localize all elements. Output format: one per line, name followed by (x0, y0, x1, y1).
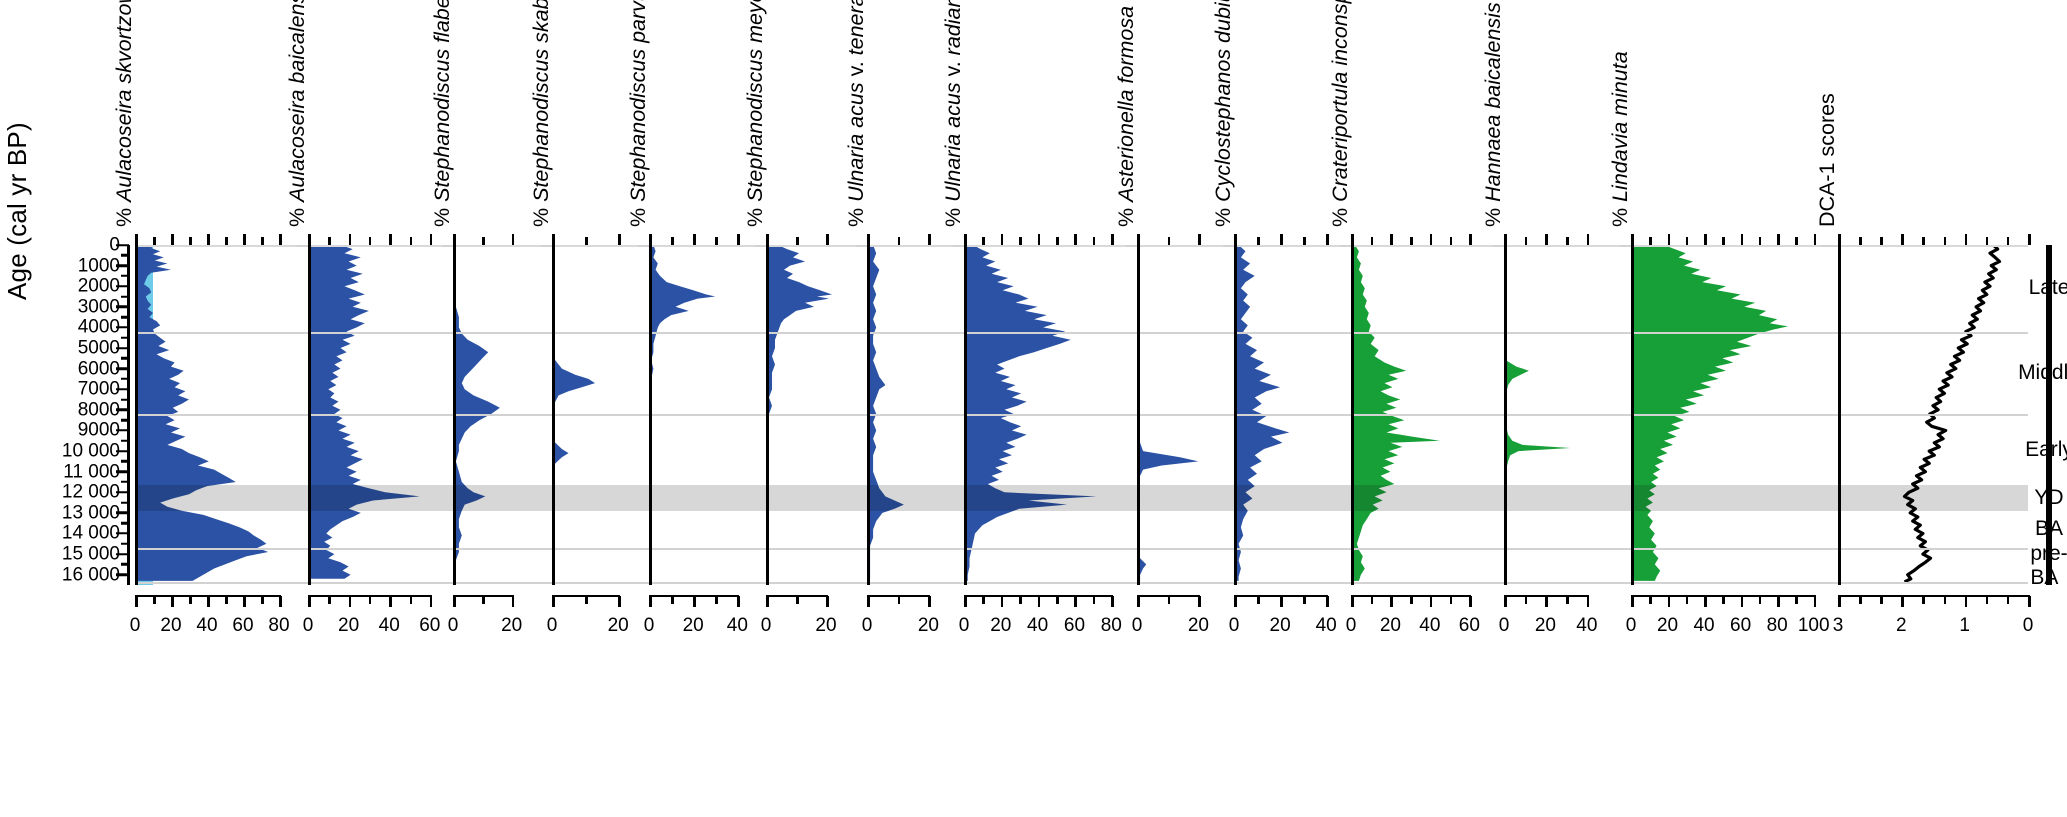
panel-top-minor-tick (1093, 237, 1096, 245)
panel-bottom-tick (826, 596, 829, 607)
panel-tick-label: 20 (608, 615, 629, 637)
panel-plot-area (552, 245, 638, 585)
panel-bottom-minor-tick (369, 596, 372, 604)
panel-bottom-tick (552, 596, 555, 607)
panel-top-minor-tick (1859, 237, 1862, 245)
panel-top-tick (618, 234, 621, 245)
panel-top-tick (1838, 234, 1841, 245)
species-label: % Asterionella formosa (1114, 6, 1139, 227)
panel-top-tick (430, 234, 433, 245)
panel-bottom-tick (349, 596, 352, 607)
panel-bottom-tick (453, 596, 456, 607)
panel-top-tick (1430, 234, 1433, 245)
panel-bottom-tick (1704, 596, 1707, 607)
age-tick-label: 8000 (78, 400, 128, 419)
species-label: % Aulacoseira skvortzowii (112, 0, 137, 227)
age-tick-label: 2000 (78, 277, 128, 296)
panel-bottom-tick (279, 596, 282, 607)
panel-tick-label: 20 (918, 615, 939, 637)
panel-tick-label: 40 (1027, 615, 1048, 637)
panel-value-axis (308, 245, 311, 585)
panel-bottom-minor-tick (1566, 596, 1569, 604)
species-label: % Stephanodiscus parvus (626, 0, 651, 227)
panel-top-minor-tick (225, 237, 228, 245)
panel-top-tick (1111, 234, 1114, 245)
panel-top-tick (1234, 234, 1237, 245)
abundance-curve (453, 245, 541, 585)
panel-tick-label: 80 (268, 615, 289, 637)
panel-top-tick (1901, 234, 1904, 245)
age-axis-line (127, 245, 130, 585)
panel-bottom-minor-tick (1450, 596, 1453, 604)
panel-bottom-minor-tick (1944, 596, 1947, 604)
panel-bottom-minor-tick (1371, 596, 1374, 604)
panel-top-minor-tick (1649, 237, 1652, 245)
panel-bottom-tick (649, 596, 652, 607)
panel-bottom-tick (1001, 596, 1004, 607)
panel-top-tick (826, 234, 829, 245)
panel-bottom-tick (1038, 596, 1041, 607)
panel-tick-label: 20 (338, 615, 359, 637)
panel-tick-label: 0 (1229, 615, 1240, 637)
panel-tick-label: 0 (1132, 615, 1143, 637)
panel-top-minor-tick (1257, 237, 1260, 245)
panel-bottom-tick (135, 596, 138, 607)
panel-plot-area (453, 245, 541, 585)
panel-top-tick (207, 234, 210, 245)
panel-plot-area (1838, 245, 2028, 585)
panel-tick-label: 0 (2023, 615, 2034, 637)
panel-bottom-minor-tick (1686, 596, 1689, 604)
panel-bottom-minor-tick (982, 596, 985, 604)
panel-bottom-minor-tick (1722, 596, 1725, 604)
panel-bottom-tick (1741, 596, 1744, 607)
dca-curve (1838, 245, 2028, 585)
panel-top-tick (1137, 234, 1140, 245)
panel-plot-area (1137, 245, 1223, 585)
panel-top-tick (928, 234, 931, 245)
panel-bottom-minor-tick (482, 596, 485, 604)
age-tick-label: 12 000 (62, 483, 128, 502)
panel-value-axis (1631, 245, 1634, 585)
species-label: % Stephanodiscus flabellatus (430, 0, 455, 227)
abundance-curve (649, 245, 755, 585)
panel-bottom-minor-tick (1168, 596, 1171, 604)
panel-bottom-tick (867, 596, 870, 607)
panel-top-tick (512, 234, 515, 245)
panel-tick-label: 80 (1101, 615, 1122, 637)
age-tick-label: 16 000 (62, 565, 128, 584)
panel-bottom-tick (1469, 596, 1472, 607)
panel-top-tick (1001, 234, 1004, 245)
panel-bottom-minor-tick (796, 596, 799, 604)
age-tick-label: 13 000 (62, 503, 128, 522)
panel-bottom-tick (1351, 596, 1354, 607)
panel-bottom-minor-tick (1795, 596, 1798, 604)
panel-tick-label: 0 (644, 615, 655, 637)
panel-top-tick (1587, 234, 1590, 245)
panel-tick-label: 60 (1459, 615, 1480, 637)
panel-top-tick (1777, 234, 1780, 245)
panel-top-tick (135, 234, 138, 245)
panel-top-minor-tick (410, 237, 413, 245)
panel-top-tick (649, 234, 652, 245)
panel-top-minor-tick (2007, 237, 2010, 245)
panel-tick-label: 20 (501, 615, 522, 637)
panel-top-minor-tick (982, 237, 985, 245)
abundance-curve (135, 245, 297, 585)
age-tick-label: 4000 (78, 318, 128, 337)
panel-plot-area (1351, 245, 1493, 585)
panel-top-tick (964, 234, 967, 245)
abundance-curve (766, 245, 856, 585)
species-panel: 0204060% Crateriportula inconspicua (1351, 245, 1493, 585)
panel-top-tick (1668, 234, 1671, 245)
panel-tick-label: 60 (232, 615, 253, 637)
panel-top-minor-tick (796, 237, 799, 245)
panel-top-tick (867, 234, 870, 245)
panel-bottom-minor-tick (1649, 596, 1652, 604)
panel-top-minor-tick (261, 237, 264, 245)
panel-top-rule (1504, 245, 1620, 247)
age-tick-label: 10 000 (62, 442, 128, 461)
panel-tick-label: 20 (1270, 615, 1291, 637)
species-label: % Stephanodiscus skabitschevskyi (529, 0, 554, 227)
panel-tick-label: 20 (160, 615, 181, 637)
panel-tick-label: 20 (1380, 615, 1401, 637)
panel-top-tick (1326, 234, 1329, 245)
panel-top-minor-tick (1759, 237, 1762, 245)
panel-bottom-tick (693, 596, 696, 607)
panel-bottom-minor-tick (2007, 596, 2010, 604)
species-label: % Lindavia minuta (1608, 51, 1633, 227)
panel-bottom-minor-tick (1986, 596, 1989, 604)
panel-top-minor-tick (1686, 237, 1689, 245)
panel-tick-label: 0 (862, 615, 873, 637)
age-tick-label: 6000 (78, 359, 128, 378)
zone-column: LateMiddleEarlyYDBApre-BA (2046, 245, 2052, 585)
panel-top-tick (1814, 234, 1817, 245)
panel-top-tick (1545, 234, 1548, 245)
panel-tick-label: 40 (1316, 615, 1337, 637)
diatom-stratigraphic-diagram: Age (cal yr BP) 010002000300040005000600… (0, 0, 2067, 817)
panel-tick-label: 0 (1346, 615, 1357, 637)
abundance-curve (1351, 245, 1493, 585)
panel-top-tick (1280, 234, 1283, 245)
panel-tick-label: 20 (1535, 615, 1556, 637)
panel-top-minor-tick (1450, 237, 1453, 245)
panel-top-rule (453, 245, 541, 247)
species-panel: 020406080100% Lindavia minuta (1631, 245, 1821, 585)
abundance-curve (1137, 245, 1223, 585)
panel-value-axis (649, 245, 652, 585)
panel-tick-label: 20 (990, 615, 1011, 637)
species-panel: 020406080% Ulnaria acus v. radians (964, 245, 1126, 585)
panel-bottom-minor-tick (1880, 596, 1883, 604)
panel-top-rule (1631, 245, 1821, 247)
panel-plot-area (766, 245, 856, 585)
panel-bottom-tick (1504, 596, 1507, 607)
age-tick-label: 3000 (78, 297, 128, 316)
panel-bottom-tick (1901, 596, 1904, 607)
panel-bottom-minor-tick (328, 596, 331, 604)
panel-value-axis (552, 245, 555, 585)
panel-top-tick (2028, 234, 2031, 245)
panel-tick-label: 20 (1188, 615, 1209, 637)
panel-tick-label: 60 (1730, 615, 1751, 637)
species-panel: 020% Ulnaria acus v. tenera (867, 245, 953, 585)
panel-top-minor-tick (369, 237, 372, 245)
panel-bottom-tick (1545, 596, 1548, 607)
panel-bottom-minor-tick (1759, 596, 1762, 604)
panel-top-minor-tick (189, 237, 192, 245)
panel-top-minor-tick (671, 237, 674, 245)
panel-tick-label: 0 (761, 615, 772, 637)
species-panel: 02040% Stephanodiscus parvus (649, 245, 755, 585)
panel-bottom-minor-tick (410, 596, 413, 604)
species-label: % Hannaea baicalensis (1481, 2, 1506, 227)
panel-top-rule (964, 245, 1126, 247)
age-axis-ticks: 010002000300040005000600070008000900010 … (36, 245, 128, 585)
panel-value-axis (1234, 245, 1237, 585)
species-panel: 02040% Cyclostephanos dubius (1234, 245, 1340, 585)
panel-tick-label: 1 (1959, 615, 1970, 637)
panel-plot-area (1504, 245, 1620, 585)
panel-top-minor-tick (1525, 237, 1528, 245)
species-panel: 020% Stephanodiscus flabellatus (453, 245, 541, 585)
panel-top-tick (1504, 234, 1507, 245)
panel-bottom-minor-tick (225, 596, 228, 604)
panel-value-axis (766, 245, 769, 585)
panel-bottom-tick (618, 596, 621, 607)
panel-top-tick (1351, 234, 1354, 245)
panel-top-tick (766, 234, 769, 245)
panel-top-minor-tick (715, 237, 718, 245)
panel-bottom-tick (1814, 596, 1817, 607)
panel-bottom-minor-tick (585, 596, 588, 604)
panel-bottom-minor-tick (1019, 596, 1022, 604)
panel-value-axis (453, 245, 456, 585)
panel-value-axis (1351, 245, 1354, 585)
species-panel: 020406080% Aulacoseira skvortzowii (135, 245, 297, 585)
panel-bottom-tick (737, 596, 740, 607)
panel-bottom-tick (1390, 596, 1393, 607)
panel-top-rule (649, 245, 755, 247)
panel-top-tick (349, 234, 352, 245)
panel-bottom-minor-tick (1093, 596, 1096, 604)
panel-bottom-tick (1137, 596, 1140, 607)
panel-bottom-minor-tick (1303, 596, 1306, 604)
panel-bottom-minor-tick (189, 596, 192, 604)
panel-plot-area (964, 245, 1126, 585)
abundance-curve (1234, 245, 1340, 585)
panel-bottom-minor-tick (898, 596, 901, 604)
panel-bottom-tick (1326, 596, 1329, 607)
panel-bottom-tick (1587, 596, 1590, 607)
species-label: % Crateriportula inconspicua (1328, 0, 1353, 227)
panel-value-axis (1137, 245, 1140, 585)
panel-top-tick (737, 234, 740, 245)
panel-top-minor-tick (1410, 237, 1413, 245)
panel-top-tick (1390, 234, 1393, 245)
panel-top-minor-tick (1168, 237, 1171, 245)
panel-tick-label: 0 (448, 615, 459, 637)
panel-plot-area (649, 245, 755, 585)
panel-tick-label: 80 (1767, 615, 1788, 637)
panel-top-rule (1137, 245, 1223, 247)
panel-top-minor-tick (1944, 237, 1947, 245)
age-tick-label: 1000 (78, 256, 128, 275)
panel-top-tick (1631, 234, 1634, 245)
panel-bottom-tick (766, 596, 769, 607)
age-tick-label: 14 000 (62, 524, 128, 543)
panel-bottom-tick (512, 596, 515, 607)
panel-top-minor-tick (1566, 237, 1569, 245)
abundance-curve (1631, 245, 1821, 585)
panel-top-minor-tick (898, 237, 901, 245)
panel-top-tick (1074, 234, 1077, 245)
panel-bottom-minor-tick (715, 596, 718, 604)
species-panel: 02040% Hannaea baicalensis (1504, 245, 1620, 585)
panel-top-minor-tick (328, 237, 331, 245)
abundance-curve (1504, 245, 1620, 585)
panel-top-minor-tick (1371, 237, 1374, 245)
panel-bottom-minor-tick (261, 596, 264, 604)
age-axis-label: Age (cal yr BP) (2, 0, 33, 300)
panel-top-minor-tick (1303, 237, 1306, 245)
species-label: DCA-1 scores (1815, 93, 1840, 227)
panel-bottom-minor-tick (1922, 596, 1925, 604)
panel-value-axis (1504, 245, 1507, 585)
panel-tick-label: 40 (727, 615, 748, 637)
panel-top-rule (308, 245, 442, 247)
panel-bottom-minor-tick (1525, 596, 1528, 604)
panel-top-tick (1704, 234, 1707, 245)
panel-tick-label: 0 (547, 615, 558, 637)
panel-bottom-tick (1838, 596, 1841, 607)
panel-bottom-tick (1777, 596, 1780, 607)
panel-tick-label: 100 (1798, 615, 1830, 637)
species-label: % Stephanodiscus meyeri (743, 0, 768, 227)
panel-top-tick (1469, 234, 1472, 245)
panel-top-tick (1038, 234, 1041, 245)
panel-top-minor-tick (1056, 237, 1059, 245)
species-label: % Ulnaria acus v. tenera (844, 0, 869, 227)
age-tick-label: 5000 (78, 339, 128, 358)
panel-top-tick (308, 234, 311, 245)
panel-top-minor-tick (482, 237, 485, 245)
panel-top-rule (135, 245, 297, 247)
panel-top-tick (693, 234, 696, 245)
panel-top-tick (1965, 234, 1968, 245)
panel-tick-label: 0 (1626, 615, 1637, 637)
panel-plot-area (135, 245, 297, 585)
panel-bottom-tick (1668, 596, 1671, 607)
panel-top-tick (243, 234, 246, 245)
panel-bottom-tick (1965, 596, 1968, 607)
panel-bottom-tick (308, 596, 311, 607)
panel-top-tick (453, 234, 456, 245)
panel-bottom-axis (1838, 595, 2030, 598)
panel-tick-label: 20 (815, 615, 836, 637)
panel-tick-label: 40 (1419, 615, 1440, 637)
panel-top-minor-tick (585, 237, 588, 245)
panel-tick-label: 0 (130, 615, 141, 637)
panel-value-axis (1838, 245, 1841, 585)
panel-tick-label: 20 (683, 615, 704, 637)
abundance-curve (308, 245, 442, 585)
panel-top-rule (1838, 245, 2028, 247)
abundance-curve (867, 245, 953, 585)
panel-plot-area (1631, 245, 1821, 585)
panel-tick-label: 3 (1833, 615, 1844, 637)
panel-bottom-tick (1074, 596, 1077, 607)
panel-value-axis (135, 245, 138, 585)
panel-bottom-tick (928, 596, 931, 607)
panel-top-minor-tick (1922, 237, 1925, 245)
panel-tick-label: 2 (1896, 615, 1907, 637)
panel-plot-area (1234, 245, 1340, 585)
panel-bottom-tick (243, 596, 246, 607)
panel-top-minor-tick (1880, 237, 1883, 245)
panel-tick-label: 60 (1064, 615, 1085, 637)
age-tick-label: 7000 (78, 380, 128, 399)
panel-bottom-minor-tick (671, 596, 674, 604)
panel-bottom-minor-tick (1056, 596, 1059, 604)
species-label: % Cyclostephanos dubius (1211, 0, 1236, 227)
panel-plot-area (867, 245, 953, 585)
panel-value-axis (964, 245, 967, 585)
panel-top-minor-tick (1019, 237, 1022, 245)
panel-tick-label: 40 (1576, 615, 1597, 637)
panel-bottom-tick (1631, 596, 1634, 607)
panel-bottom-minor-tick (1257, 596, 1260, 604)
panel-bottom-tick (1198, 596, 1201, 607)
panel-tick-label: 60 (419, 615, 440, 637)
panel-bottom-tick (2028, 596, 2031, 607)
panel-tick-label: 40 (379, 615, 400, 637)
panel-top-minor-tick (153, 237, 156, 245)
panel-tick-label: 0 (303, 615, 314, 637)
panel-bottom-tick (1280, 596, 1283, 607)
species-label: % Ulnaria acus v. radians (941, 0, 966, 227)
panel-top-minor-tick (1795, 237, 1798, 245)
panel-tick-label: 0 (1499, 615, 1510, 637)
panel-bottom-tick (1234, 596, 1237, 607)
panel-top-rule (1351, 245, 1493, 247)
panel-bottom-tick (1111, 596, 1114, 607)
panel-top-minor-tick (1986, 237, 1989, 245)
age-tick-label: 15 000 (62, 545, 128, 564)
panel-bottom-tick (430, 596, 433, 607)
panel-bottom-tick (171, 596, 174, 607)
panel-top-minor-tick (1722, 237, 1725, 245)
age-tick-label: 0 (109, 236, 128, 255)
panel-top-tick (1741, 234, 1744, 245)
panel-bottom-tick (207, 596, 210, 607)
panel-top-rule (552, 245, 638, 247)
panel-bottom-minor-tick (153, 596, 156, 604)
panel-top-rule (867, 245, 953, 247)
panel-top-tick (552, 234, 555, 245)
species-panel: 020% Asterionella formosa (1137, 245, 1223, 585)
panel-tick-label: 40 (1693, 615, 1714, 637)
panel-bottom-minor-tick (1410, 596, 1413, 604)
panel-bottom-tick (964, 596, 967, 607)
panel-top-tick (279, 234, 282, 245)
dca-panel: 3210DCA-1 scores (1838, 245, 2028, 585)
panel-top-tick (1198, 234, 1201, 245)
